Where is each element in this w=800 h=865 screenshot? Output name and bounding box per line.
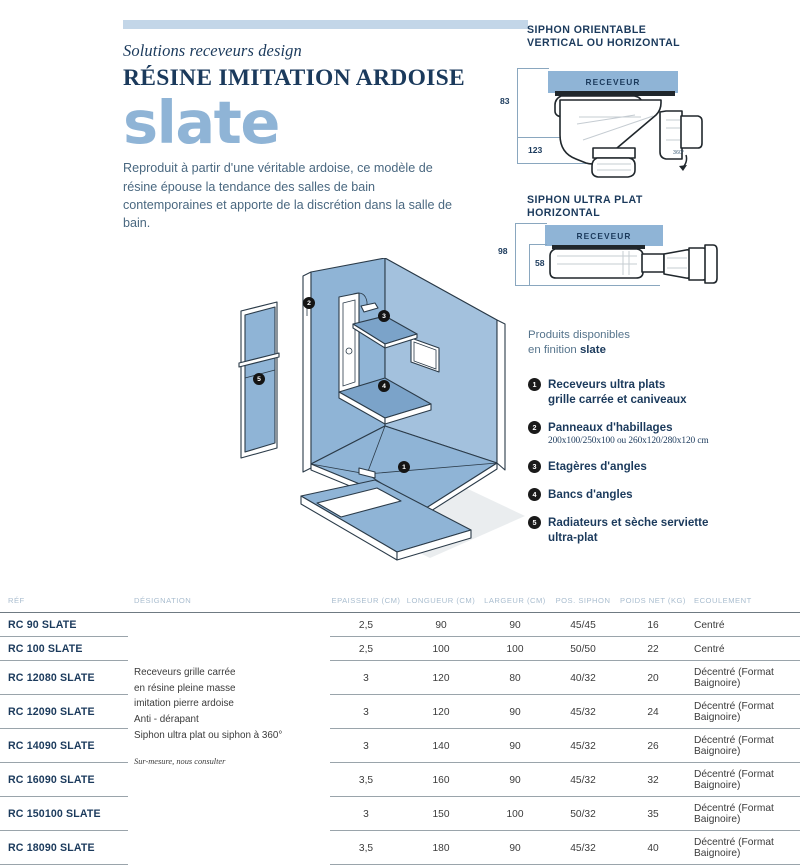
cell-longueur: 120 [402, 695, 480, 729]
spec-table: RÉF DÉSIGNATION EPAISSEUR (CM) LONGUEUR … [0, 596, 800, 865]
illustration-badge-panel: 2 [303, 297, 315, 309]
slate-logo: slate [123, 96, 473, 150]
cell-ecoulement: Centré [690, 613, 800, 637]
illustration-badge-tray: 1 [398, 461, 410, 473]
cell-ecoulement: Centré [690, 637, 800, 661]
cell-largeur: 90 [480, 613, 550, 637]
top-accent-bar [123, 20, 528, 29]
eyebrow-text: Solutions receveurs design [123, 42, 473, 60]
designation-line: Receveurs grille carrée [134, 665, 330, 681]
cell-longueur: 100 [402, 637, 480, 661]
legend-item-4-label: Bancs d'angles [548, 487, 633, 502]
illustration-badge-shelf: 3 [378, 310, 390, 322]
cell-epaisseur: 3 [330, 695, 402, 729]
cell-poids: 16 [616, 613, 690, 637]
table-row: RC 16090 SLATE3,51609045/3232Décentré (F… [0, 763, 800, 797]
designation-line: Siphon ultra plat ou siphon à 360° [134, 728, 330, 744]
cell-siphon: 40/32 [550, 661, 616, 695]
legend-panel: Produits disponibles en finition slate 1… [528, 328, 790, 558]
cell-siphon: 45/45 [550, 613, 616, 637]
illustration-badge-radiator: 5 [253, 373, 265, 385]
cell-poids: 32 [616, 763, 690, 797]
cell-ecoulement: Décentré (Format Baignoire) [690, 695, 800, 729]
cell-poids: 22 [616, 637, 690, 661]
cell-longueur: 90 [402, 613, 480, 637]
cell-poids: 26 [616, 729, 690, 763]
spec-table-element: RÉF DÉSIGNATION EPAISSEUR (CM) LONGUEUR … [0, 596, 800, 865]
cell-ecoulement: Décentré (Format Baignoire) [690, 661, 800, 695]
cell-siphon: 45/32 [550, 763, 616, 797]
col-header-ecoulement: ECOULEMENT [690, 596, 800, 612]
cell-ref: RC 100 SLATE [0, 637, 128, 661]
designation-line: imitation pierre ardoise [134, 696, 330, 712]
designation-note: Sur-mesure, nous consulter [134, 755, 330, 768]
cell-epaisseur: 3,5 [330, 763, 402, 797]
cell-ecoulement: Décentré (Format Baignoire) [690, 729, 800, 763]
siphon1-body-svg: 360° [527, 24, 797, 184]
cell-poids: 24 [616, 695, 690, 729]
cell-epaisseur: 3 [330, 797, 402, 831]
legend-item-3: 3 Etagères d'angles [528, 459, 790, 474]
cell-ecoulement: Décentré (Format Baignoire) [690, 831, 800, 865]
cell-epaisseur: 2,5 [330, 613, 402, 637]
legend-item-2: 2 Panneaux d'habillages 200x100/250x100 … [528, 420, 790, 446]
col-header-siphon: POS. SIPHON [550, 596, 616, 612]
designation-line: en résine pleine masse [134, 681, 330, 697]
cell-ref: RC 150100 SLATE [0, 797, 128, 831]
siphon1-dim-vline [517, 68, 518, 163]
siphon2-body-svg [527, 194, 797, 304]
legend-item-1: 1 Receveurs ultra plats grille carrée et… [528, 377, 790, 407]
legend-item-4: 4 Bancs d'angles [528, 487, 790, 502]
cell-longueur: 120 [402, 661, 480, 695]
siphon1-dim-83: 83 [500, 96, 510, 106]
cell-largeur: 90 [480, 763, 550, 797]
siphon-orientable-diagram: SIPHON ORIENTABLE VERTICAL OU HORIZONTAL… [527, 24, 797, 184]
header-block: Solutions receveurs design RÉSINE IMITAT… [123, 42, 473, 232]
cell-ref: RC 14090 SLATE [0, 729, 128, 763]
cell-largeur: 100 [480, 797, 550, 831]
siphon-ultraplat-diagram: SIPHON ULTRA PLAT HORIZONTAL RECEVEUR 98… [527, 194, 797, 304]
cell-siphon: 45/32 [550, 695, 616, 729]
siphon1-rotation-label: 360° [673, 150, 684, 156]
col-header-design: DÉSIGNATION [128, 596, 330, 612]
cell-longueur: 140 [402, 729, 480, 763]
cell-ecoulement: Décentré (Format Baignoire) [690, 797, 800, 831]
cell-longueur: 150 [402, 797, 480, 831]
spec-table-body: RC 90 SLATEReceveurs grille carréeen rés… [0, 613, 800, 865]
cell-poids: 20 [616, 661, 690, 695]
legend-intro: Produits disponibles en finition slate [528, 328, 790, 359]
cell-largeur: 90 [480, 729, 550, 763]
cell-largeur: 90 [480, 695, 550, 729]
siphon2-dim-98: 98 [498, 246, 508, 256]
cell-largeur: 90 [480, 831, 550, 865]
cell-largeur: 80 [480, 661, 550, 695]
cell-ref: RC 18090 SLATE [0, 831, 128, 865]
col-header-largeur: LARGEUR (CM) [480, 596, 550, 612]
spec-table-header-row: RÉF DÉSIGNATION EPAISSEUR (CM) LONGUEUR … [0, 596, 800, 612]
cell-longueur: 160 [402, 763, 480, 797]
cell-ref: RC 16090 SLATE [0, 763, 128, 797]
spec-table-head: RÉF DÉSIGNATION EPAISSEUR (CM) LONGUEUR … [0, 596, 800, 613]
col-header-epaisseur: EPAISSEUR (CM) [330, 596, 402, 612]
shower-illustration: .pnl{fill:#8fb4d6;stroke:#2b3b49;stroke-… [225, 258, 535, 578]
table-row: RC 14090 SLATE31409045/3226Décentré (For… [0, 729, 800, 763]
table-row: RC 90 SLATEReceveurs grille carréeen rés… [0, 613, 800, 637]
legend-item-3-label: Etagères d'angles [548, 459, 647, 474]
legend-intro-line1: Produits disponibles [528, 329, 630, 341]
col-header-ref: RÉF [0, 596, 128, 612]
cell-epaisseur: 2,5 [330, 637, 402, 661]
cell-epaisseur: 3 [330, 729, 402, 763]
col-header-poids: POIDS NET (KG) [616, 596, 690, 612]
cell-designation: Receveurs grille carréeen résine pleine … [128, 613, 330, 865]
cell-epaisseur: 3 [330, 661, 402, 695]
legend-item-2-sub: 200x100/250x100 ou 260x120/280x120 cm [548, 436, 709, 446]
legend-intro-slate: slate [580, 344, 606, 356]
legend-intro-line2-prefix: en finition [528, 344, 580, 356]
legend-item-2-label: Panneaux d'habillages [548, 420, 709, 435]
cell-largeur: 100 [480, 637, 550, 661]
cell-poids: 40 [616, 831, 690, 865]
cell-siphon: 45/32 [550, 831, 616, 865]
designation-line: Anti - dérapant [134, 712, 330, 728]
cell-siphon: 45/32 [550, 729, 616, 763]
cell-ref: RC 12090 SLATE [0, 695, 128, 729]
intro-paragraph: Reproduit à partir d'une véritable ardoi… [123, 159, 453, 232]
table-row: RC 12080 SLATE31208040/3220Décentré (For… [0, 661, 800, 695]
designation-lines: Receveurs grille carréeen résine pleine … [134, 613, 330, 768]
col-header-longueur: LONGUEUR (CM) [402, 596, 480, 612]
table-row: RC 12090 SLATE31209045/3224Décentré (For… [0, 695, 800, 729]
legend-item-5: 5 Radiateurs et sèche serviette ultra-pl… [528, 515, 790, 545]
table-row: RC 18090 SLATE3,51809045/3240Décentré (F… [0, 831, 800, 865]
cell-poids: 35 [616, 797, 690, 831]
cell-ref: RC 90 SLATE [0, 613, 128, 637]
product-sheet-page: Solutions receveurs design RÉSINE IMITAT… [0, 0, 800, 800]
shower-illustration-svg: .pnl{fill:#8fb4d6;stroke:#2b3b49;stroke-… [225, 258, 535, 578]
cell-longueur: 180 [402, 831, 480, 865]
legend-item-5-label: Radiateurs et sèche serviette ultra-plat [548, 515, 708, 545]
cell-epaisseur: 3,5 [330, 831, 402, 865]
table-row: RC 150100 SLATE315010050/3235Décentré (F… [0, 797, 800, 831]
cell-ecoulement: Décentré (Format Baignoire) [690, 763, 800, 797]
legend-item-1-label: Receveurs ultra plats grille carrée et c… [548, 377, 687, 407]
illustration-badge-bench: 4 [378, 380, 390, 392]
table-row: RC 100 SLATE2,510010050/5022Centré [0, 637, 800, 661]
cell-ref: RC 12080 SLATE [0, 661, 128, 695]
cell-siphon: 50/32 [550, 797, 616, 831]
cell-siphon: 50/50 [550, 637, 616, 661]
